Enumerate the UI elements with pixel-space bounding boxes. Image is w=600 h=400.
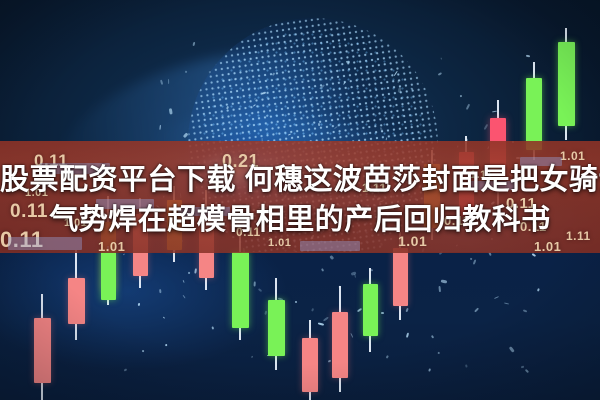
banner-bar bbox=[300, 241, 360, 251]
headline-line-1: 股票配资平台下载 何穗这波芭莎封面是把女骑士 bbox=[0, 160, 600, 200]
banner-number: 1.01 bbox=[534, 239, 561, 253]
headline: 股票配资平台下载 何穗这波芭莎封面是把女骑士 气势焊在超模骨相里的产后回归教科书 bbox=[0, 160, 600, 240]
headline-line-2: 气势焊在超模骨相里的产后回归教科书 bbox=[0, 200, 600, 240]
banner-number: 1.01 bbox=[98, 239, 125, 253]
thumbnail-canvas: 0.111.010.110.111.011.010.210.111.011.11… bbox=[0, 0, 600, 400]
